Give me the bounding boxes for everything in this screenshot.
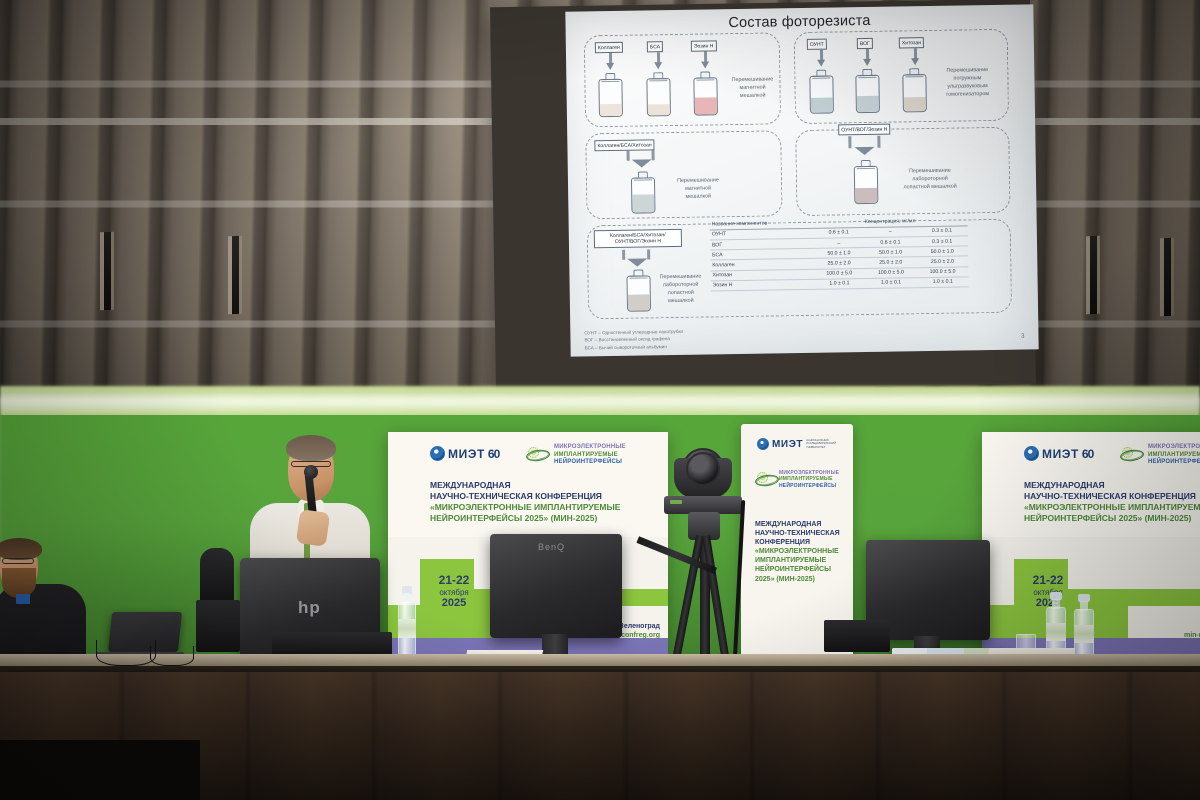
- miet-subtitle: НАЦИОНАЛЬНЫЙ ИССЛЕДОВАТЕЛЬСКИЙ УНИВЕРСИТ…: [806, 439, 840, 449]
- slide-input-label: БСА: [647, 41, 663, 53]
- av-technician-glasses: [2, 558, 34, 564]
- slide-process-text: Перемешивание лабороторной лопастной меш…: [656, 273, 705, 306]
- slide-input-label: Коллаген: [595, 42, 623, 54]
- banner-heading-line-3: «МИКРОЭЛЕКТРОННЫЕ ИМПЛАНТИРУЕМЫЕ: [430, 502, 620, 513]
- table-cell-c2: 1.0 ± 0.1: [865, 277, 917, 288]
- slide-input-label: Коллаген/БСА/Хитозан/ ОУНТ/ВОГ/Эозин Н: [594, 229, 682, 248]
- mein-logo: МИКРОЭЛЕКТРОННЫЕ ИМПЛАНТИРУЕМЫЕ НЕЙРОИНТ…: [1120, 444, 1200, 467]
- banner-url: min-miet.confreg.org: [1184, 631, 1200, 640]
- banner-date-month: октября: [428, 588, 480, 597]
- av-technician-badge: [16, 594, 30, 604]
- slide-arrow-icon: [632, 159, 652, 167]
- neurointerface-infinity-icon: [1120, 447, 1144, 464]
- banner-heading: МЕЖДУНАРОДНАЯ НАУЧНО-ТЕХНИЧЕСКАЯ КОНФЕРЕ…: [430, 480, 620, 524]
- neurointerface-infinity-icon: [526, 447, 550, 464]
- slide-arrow-icon: [654, 62, 662, 69]
- slide-beaker: [631, 171, 656, 213]
- banner-date-day: 21-22: [428, 574, 480, 588]
- slide-beaker: [626, 269, 651, 311]
- av-equipment-box-right: [824, 620, 890, 652]
- mein-line-1: МИКРОЭЛЕКТРОННЫЕ: [1148, 444, 1200, 450]
- banner-heading-line-4: НЕЙРОИНТЕРФЕЙСЫ 2025» (МИН-2025): [430, 513, 620, 524]
- miet-logo: МИЭТ 60: [1024, 446, 1093, 461]
- mein-line-1: МИКРОЭЛЕКТРОННЫЕ: [554, 444, 626, 450]
- speaker-hair: [286, 435, 336, 461]
- mein-line-3: НЕЙРОИНТЕРФЕЙСЫ: [1148, 459, 1200, 465]
- banner-heading-line-4: НЕЙРОИНТЕРФЕЙСЫ 2025» (МИН-2025): [1024, 513, 1200, 524]
- floor-shadow-area: [0, 740, 200, 800]
- slide-beaker: [902, 68, 927, 112]
- miet-emblem-icon: [430, 446, 445, 461]
- miet-anniversary: 60: [1082, 447, 1093, 461]
- water-bottle[interactable]: [398, 586, 416, 660]
- slide-beaker: [646, 72, 671, 116]
- banner-heading: МЕЖДУНАРОДНАЯ НАУЧНО-ТЕХНИЧЕСКАЯ КОНФЕРЕ…: [1024, 480, 1200, 524]
- slide-group-5: Коллаген/БСА/Хитозан/ ОУНТ/ВОГ/Эозин Н П…: [587, 219, 1012, 320]
- banner-heading-line-3: «МИКРОЭЛЕКТРОННЫЕ ИМПЛАНТИРУЕМЫЕ: [1024, 502, 1200, 513]
- monitor-brand-label: hp: [298, 598, 321, 618]
- slide-input-label: ВОГ: [857, 38, 873, 50]
- monitor-brand-label: BenQ: [538, 542, 565, 552]
- footnote: БСА – Бычий сывороточный альбумин: [585, 343, 684, 352]
- table-cell-name: Эозин Н: [711, 279, 814, 291]
- table-cell-c3: 1.0 ± 0.1: [917, 277, 969, 288]
- banner-heading-line-1: МЕЖДУНАРОДНАЯ: [1024, 480, 1200, 491]
- slide-process-text: Перемешивание лабороторной лопастной меш…: [893, 166, 967, 191]
- mein-line-2: ИМПЛАНТИРУЕМЫЕ: [554, 452, 618, 458]
- slide-beaker: [854, 160, 879, 204]
- projected-slide: Состав фоторезиста Коллаген БСА Эозин Н …: [565, 4, 1038, 356]
- slide-group-3: Коллаген/БСА/Хитозан Перемешивание магни…: [585, 130, 782, 219]
- slide-arrow-icon: [817, 60, 825, 67]
- mein-wordmark: МИКРОЭЛЕКТРОННЫЕ ИМПЛАНТИРУЕМЫЕ НЕЙРОИНТ…: [1148, 444, 1200, 467]
- microphone-head: [304, 465, 318, 479]
- slide-beaker: [855, 69, 880, 113]
- mein-line-2: ИМПЛАНТИРУЕМЫЕ: [1148, 452, 1200, 458]
- banner-dates: 21-22 октября 2025: [428, 574, 480, 610]
- slide-arrow-icon: [911, 58, 919, 65]
- slide-input-label: ОУНТ: [807, 39, 827, 51]
- slide-arrow-icon: [854, 147, 874, 155]
- slide-arrow-icon: [627, 258, 647, 266]
- conference-hall-photo: Состав фоторезиста Коллаген БСА Эозин Н …: [0, 0, 1200, 800]
- banner-city: г. Зеленоград: [1184, 622, 1200, 631]
- composition-table: Название компонентов Концентрация, мг/мл…: [710, 216, 969, 291]
- speaker-hand: [296, 509, 330, 547]
- miet-logo: МИЭТ 60: [430, 446, 499, 461]
- banner-date-year: 2025: [428, 597, 480, 610]
- slide-arrow-icon: [606, 63, 614, 70]
- slide-beaker: [598, 73, 623, 117]
- av-equipment-box: [196, 600, 240, 652]
- av-technician-hair: [0, 538, 42, 560]
- miet-wordmark: МИЭТ: [1042, 447, 1079, 461]
- slide-beaker: [809, 69, 834, 113]
- monitor-center-benq: BenQ: [490, 534, 622, 638]
- miet-anniversary: 60: [488, 447, 499, 461]
- slide-group-4: ОУНТ/ВОГ/Эозин Н Перемешивание лаборотор…: [795, 127, 1010, 216]
- ptz-camera-lens-front: [686, 452, 720, 486]
- mein-wordmark: МИКРОЭЛЕКТРОННЫЕ ИМПЛАНТИРУЕМЫЕ НЕЙРОИНТ…: [554, 444, 626, 467]
- table-cell-c1: 1.0 ± 0.1: [814, 278, 866, 289]
- slide-page-number: 3: [1021, 334, 1024, 340]
- banner-location: г. Зеленоград min-miet.confreg.org: [1184, 622, 1200, 640]
- slide-arrow-icon: [701, 61, 709, 68]
- miet-wordmark: МИЭТ: [448, 447, 485, 461]
- slide-input-label: Эозин Н: [691, 40, 717, 52]
- banner-heading-line-2: НАУЧНО-ТЕХНИЧЕСКАЯ КОНФЕРЕНЦИЯ: [430, 491, 620, 502]
- cable: [150, 646, 194, 666]
- slide-beaker: [693, 71, 718, 115]
- slide-group-2: ОУНТ ВОГ Хитозан Перемешивание погружным…: [794, 29, 1009, 124]
- miet-emblem-icon: [1024, 446, 1039, 461]
- cable: [96, 640, 156, 666]
- slide-process-text: Перемешивание магнитной мешалкой: [669, 176, 727, 201]
- slide-input-label: ОУНТ/ВОГ/Эозин Н: [838, 124, 890, 136]
- camera-status-led: [670, 500, 682, 504]
- slide-group-1: Коллаген БСА Эозин Н Перемешивание магни…: [584, 32, 781, 127]
- av-technician: [0, 538, 90, 668]
- slide-process-text: Перемешивание магнитной мешалкой: [725, 75, 779, 100]
- mein-logo: МИКРОЭЛЕКТРОННЫЕ ИМПЛАНТИРУЕМЫЕ НЕЙРОИНТ…: [526, 444, 626, 467]
- mein-line-3: НЕЙРОИНТЕРФЕЙСЫ: [554, 459, 622, 465]
- slide-arrow-icon: [863, 59, 871, 66]
- banner-heading-line-1: МЕЖДУНАРОДНАЯ: [430, 480, 620, 491]
- banner-heading-line-2: НАУЧНО-ТЕХНИЧЕСКАЯ КОНФЕРЕНЦИЯ: [1024, 491, 1200, 502]
- slide-process-text: Перемешивание погружным ультразвуковым г…: [933, 66, 1002, 100]
- banner-date-day: 21-22: [1022, 574, 1074, 588]
- slide-footnotes: ОУНТ – Одностенный углеродные нанотрубки…: [584, 327, 683, 352]
- slide-input-label: Хитозан: [899, 37, 924, 49]
- speaker-cabinet-left: [200, 548, 234, 606]
